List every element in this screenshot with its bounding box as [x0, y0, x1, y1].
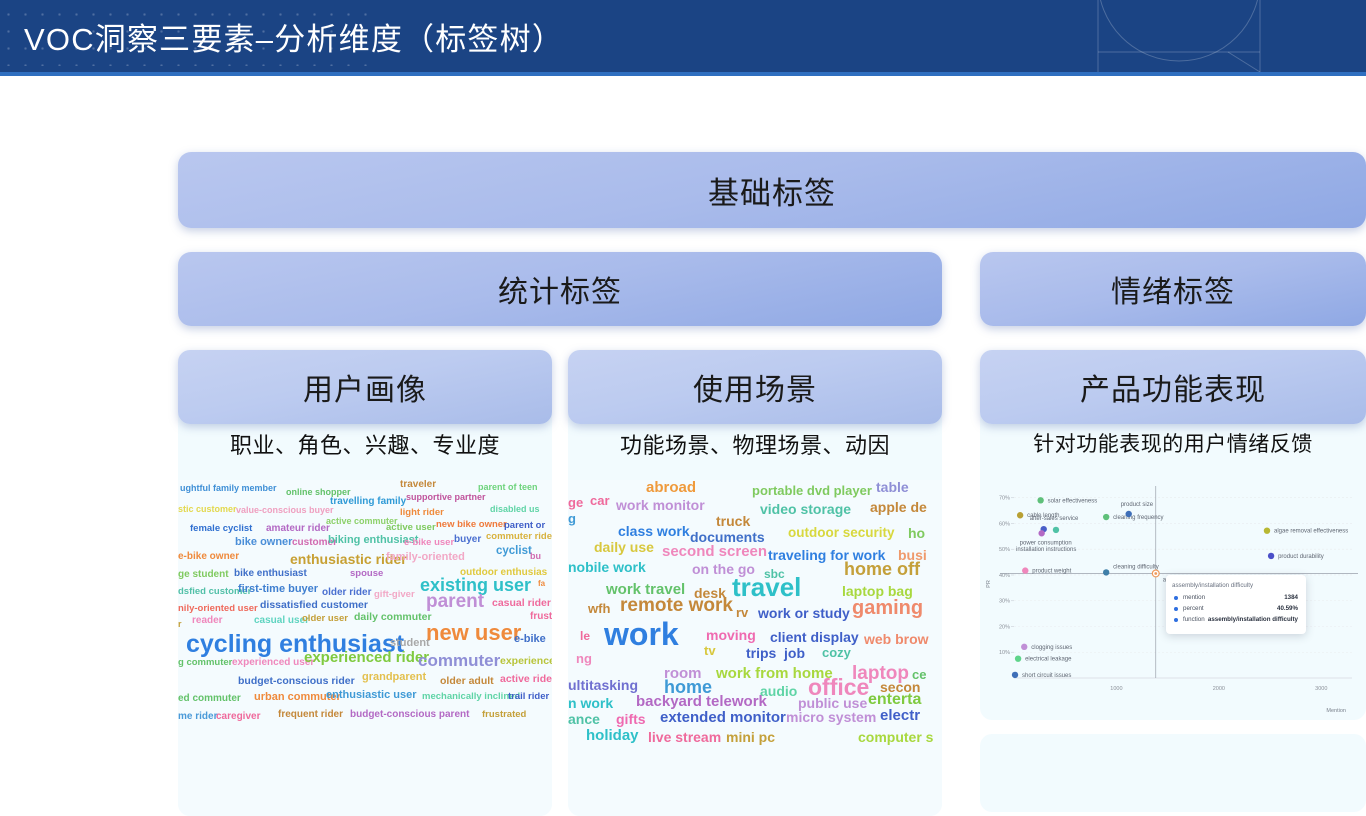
column-header-usage-scene[interactable]: 使用场景 — [568, 350, 942, 424]
wordcloud-term: ho — [908, 526, 925, 540]
wordcloud-term: live stream — [648, 730, 721, 744]
wordcloud-term: laptop bag — [842, 584, 913, 598]
tooltip-key-mention: mention — [1183, 594, 1205, 601]
y-axis-tick: 70% — [999, 496, 1010, 502]
column-title-usage-scene: 使用场景 — [693, 365, 817, 409]
wordcloud-term: wfh — [588, 602, 610, 615]
column-subtitle-user-persona: 职业、角色、兴趣、专业度 — [178, 428, 552, 460]
wordcloud-term: public use — [798, 696, 867, 710]
wordcloud-term: ge student — [178, 570, 229, 580]
wordcloud-term: bike owner — [235, 537, 292, 548]
x-axis-label: Mention — [1326, 708, 1346, 714]
wordcloud-term: home off — [844, 560, 920, 578]
wordcloud-term: frustrated — [482, 710, 526, 720]
wordcloud-term: spouse — [350, 569, 383, 579]
scatter-point-label: cleaning difficulty — [1113, 564, 1159, 570]
wordcloud-term: disabled us — [490, 505, 540, 514]
wordcloud-term: grandparent — [362, 672, 426, 683]
scatter-point-label: solar effectiveness — [1048, 498, 1098, 504]
wordcloud-term: older rider — [322, 588, 371, 598]
wordcloud-term: computer s — [858, 730, 933, 744]
wordcloud-term: reader — [192, 616, 223, 626]
sentiment-tag-box[interactable]: 情绪标签 — [980, 252, 1366, 326]
wordcloud-term: ed commuter — [178, 694, 241, 704]
scatter-point-label: clogging issues — [1031, 645, 1072, 651]
tooltip-title: assembly/installation difficulty — [1172, 582, 1298, 589]
y-axis-tick: 20% — [999, 624, 1010, 630]
wordcloud-term: daily commuter — [354, 612, 432, 623]
scatter-point[interactable]: cleaning frequency — [1103, 514, 1164, 521]
wordcloud-term: gaming — [852, 598, 923, 618]
column-title-product-function: 产品功能表现 — [1080, 365, 1266, 409]
wordcloud-term: g — [568, 512, 576, 525]
wordcloud-term: me rider — [178, 712, 217, 722]
scatter-point[interactable]: power consumption — [1020, 530, 1072, 546]
column-header-user-persona[interactable]: 用户画像 — [178, 350, 552, 424]
wordcloud-term: nily-oriented user — [178, 604, 258, 614]
wordcloud-term: trips — [746, 646, 776, 660]
y-axis-label: PR — [986, 580, 992, 588]
wordcloud-term: new bike owner — [436, 520, 507, 530]
wordcloud-term: light rider — [400, 508, 444, 518]
wordcloud-term: gifts — [616, 712, 646, 726]
wordcloud-term: stic customer — [178, 505, 237, 514]
base-tag-box[interactable]: 基础标签 — [178, 152, 1366, 228]
scatter-point[interactable]: product durability — [1268, 553, 1324, 560]
wordcloud-term: parent — [426, 592, 484, 611]
wordcloud-term: holiday — [586, 728, 639, 743]
wordcloud-term: job — [784, 646, 805, 660]
wordcloud-term: commuter — [418, 652, 500, 669]
y-axis-tick: 10% — [999, 650, 1010, 656]
wordcloud-term: documents — [690, 530, 765, 544]
wordcloud-term: travelling family — [330, 497, 406, 507]
wordcloud-term: experienced rider — [304, 650, 429, 665]
wordcloud-term: ultitasking — [568, 678, 638, 692]
wordcloud-term: bu — [530, 552, 541, 561]
wordcloud-term: work monitor — [616, 498, 705, 512]
wordcloud-term: ance — [568, 712, 600, 726]
y-axis-tick: 40% — [999, 573, 1010, 579]
wordcloud-term: caregiver — [216, 712, 260, 722]
wordcloud-term: remote work — [620, 596, 733, 615]
wordcloud-term: apple de — [870, 500, 927, 514]
wordcloud-term: backyard telework — [636, 694, 767, 709]
wordcloud-term: supportive partner — [406, 493, 486, 502]
scatter-point-label: electrical leakage — [1025, 657, 1072, 663]
scatter-point-label: product durability — [1278, 554, 1324, 560]
tooltip-value-mention: 1384 — [1284, 594, 1298, 601]
wordcloud-term: gift-giver — [374, 590, 415, 600]
tooltip-value-percent: 40.59% — [1277, 605, 1298, 612]
y-axis-tick: 50% — [999, 547, 1010, 553]
column-subtitle-product-function: 针对功能表现的用户情绪反馈 — [980, 428, 1366, 458]
wordcloud-term: value-conscious buyer — [236, 506, 334, 515]
y-axis-tick: 30% — [999, 599, 1010, 605]
wordcloud-term: mini pc — [726, 730, 775, 744]
wordcloud-term: le — [580, 630, 590, 642]
wordcloud-term: experienced user — [232, 658, 314, 668]
wordcloud-term: electr — [880, 708, 920, 723]
wordcloud-term: rv — [736, 606, 748, 619]
scatter-point-label: power consumption — [1020, 540, 1072, 546]
scatter-point-label: after-sales service — [1030, 516, 1079, 522]
tooltip-value-function: assembly/installation difficulty — [1208, 616, 1298, 623]
wordcloud-term: bike enthusiast — [234, 569, 307, 579]
wordcloud-term: frustra — [530, 612, 552, 622]
wordcloud-term: casual rider — [492, 598, 551, 609]
scatter-point[interactable]: clogging issues — [1021, 644, 1072, 651]
wordcloud-term: traveler — [400, 480, 436, 490]
statistic-tag-box[interactable]: 统计标签 — [178, 252, 942, 326]
wordcloud-term: new user — [426, 622, 521, 644]
wordcloud-term: r — [178, 620, 182, 629]
wordcloud-term: class work — [618, 524, 690, 538]
scatter-point-label: product weight — [1032, 569, 1071, 575]
wordcloud-term: budget-conscious parent — [350, 710, 469, 720]
wordcloud-term: parent or — [504, 521, 545, 531]
header-geometry-decoration — [998, 0, 1298, 72]
column-subtitle-usage-scene: 功能场景、物理场景、动因 — [568, 428, 942, 460]
column-product-function-footer-panel — [980, 734, 1366, 812]
wordcloud-term: family-oriented — [386, 552, 465, 563]
chart-tooltip: assembly/installation difficulty mention… — [1166, 575, 1306, 634]
tooltip-key-function: function — [1183, 616, 1205, 623]
wordcloud-term: n work — [568, 696, 613, 710]
wordcloud-term: ge — [568, 496, 583, 509]
wordcloud-term: older adult — [440, 676, 494, 687]
scatter-point[interactable]: algae removal effectiveness — [1264, 527, 1348, 534]
tooltip-row-percent: percent 40.59% — [1174, 605, 1298, 612]
wordcloud-term: commuter rider — [486, 532, 552, 542]
wordcloud-term: dissatisfied customer — [260, 600, 368, 611]
wordcloud-term: micro system — [786, 710, 876, 724]
wordcloud-term: work or study — [758, 606, 850, 620]
wordcloud-term: student — [390, 638, 430, 649]
wordcloud-term: abroad — [646, 480, 696, 495]
wordcloud-term: g commuter — [178, 658, 232, 668]
y-axis-tick: 60% — [999, 521, 1010, 527]
sentiment-tag-label: 情绪标签 — [1111, 267, 1235, 311]
wordcloud-term: e-bike — [514, 634, 546, 645]
tooltip-row-function: function assembly/installation difficult… — [1174, 616, 1298, 623]
wordcloud-usage-scene: gecarabroadportable dvd playertablegwork… — [568, 480, 942, 816]
wordcloud-term: buyer — [454, 535, 481, 545]
wordcloud-term: table — [876, 480, 909, 494]
x-axis-tick: 1000 — [1110, 686, 1122, 692]
wordcloud-term: cozy — [822, 646, 851, 659]
wordcloud-user-persona: ughtful family memberonline shoppertrave… — [178, 480, 552, 816]
wordcloud-term: video storage — [760, 502, 851, 516]
wordcloud-term: e-bike user — [404, 538, 454, 548]
wordcloud-term: fa — [538, 580, 545, 588]
wordcloud-term: client display — [770, 630, 859, 644]
wordcloud-term: outdoor security — [788, 526, 895, 540]
page-title: VOC洞察三要素–分析维度（标签树） — [24, 14, 564, 59]
scatter-point-label: cleaning frequency — [1113, 515, 1163, 521]
wordcloud-term: e-bike owner — [178, 552, 239, 562]
wordcloud-term: budget-conscious rider — [238, 676, 355, 687]
wordcloud-term: enterta — [868, 692, 921, 708]
scatter-point-label: installation instructions — [1016, 547, 1076, 553]
x-axis-tick: 3000 — [1315, 686, 1327, 692]
wordcloud-term: car — [590, 494, 610, 507]
bullet-icon — [1174, 596, 1178, 600]
wordcloud-term: second screen — [662, 544, 767, 559]
wordcloud-term: parent of teen — [478, 483, 538, 492]
wordcloud-term: active rider — [500, 674, 552, 685]
scatter-chart[interactable]: 10%20%30%40%50%60%70%100020003000PRMenti… — [980, 478, 1366, 718]
page-header: VOC洞察三要素–分析维度（标签树） — [0, 0, 1366, 72]
wordcloud-term: tv — [704, 644, 716, 657]
column-header-product-function[interactable]: 产品功能表现 — [980, 350, 1366, 424]
x-axis-tick: 2000 — [1213, 686, 1225, 692]
wordcloud-term: web brow — [864, 632, 929, 646]
statistic-tag-label: 统计标签 — [498, 267, 622, 311]
wordcloud-term: frequent rider — [278, 710, 343, 720]
wordcloud-term: trail rider — [508, 692, 549, 702]
wordcloud-term: amateur rider — [266, 524, 330, 534]
wordcloud-term: portable dvd player — [752, 484, 872, 497]
column-user-persona: 用户画像 职业、角色、兴趣、专业度 ughtful family membero… — [178, 350, 552, 816]
wordcloud-term: first-time buyer — [238, 584, 318, 595]
scatter-point-label: product size — [1121, 502, 1154, 508]
wordcloud-term: ng — [576, 652, 592, 665]
base-tag-label: 基础标签 — [708, 168, 836, 213]
wordcloud-term: experienced — [500, 656, 552, 667]
wordcloud-term: nobile work — [568, 560, 646, 574]
wordcloud-term: moving — [706, 628, 756, 642]
column-product-function: 产品功能表现 针对功能表现的用户情绪反馈 10%20%30%40%50%60%7… — [980, 350, 1366, 720]
wordcloud-term: active user — [386, 523, 436, 533]
scatter-point[interactable]: electrical leakage — [1015, 655, 1072, 662]
wordcloud-term: mechanically inclined — [422, 692, 520, 702]
bullet-icon — [1174, 607, 1178, 611]
wordcloud-term: daily use — [594, 540, 654, 554]
wordcloud-term: truck — [716, 514, 750, 528]
scatter-point-label: short circuit issues — [1022, 673, 1071, 679]
wordcloud-term: older user — [302, 614, 348, 624]
bullet-icon — [1174, 618, 1178, 622]
tooltip-key-percent: percent — [1183, 605, 1204, 612]
column-title-user-persona: 用户画像 — [303, 365, 427, 409]
wordcloud-term: casual user — [254, 616, 309, 626]
tooltip-row-mention: mention 1384 — [1174, 594, 1298, 601]
wordcloud-term: ughtful family member — [180, 484, 277, 493]
wordcloud-term: work — [604, 618, 679, 650]
wordcloud-term: travel — [732, 574, 801, 600]
scatter-point-label: algae removal effectiveness — [1274, 529, 1348, 535]
header-underline — [0, 72, 1366, 76]
scatter-point[interactable]: solar effectiveness — [1037, 497, 1097, 504]
wordcloud-term: cyclist — [496, 546, 532, 558]
wordcloud-term: extended monitor — [660, 710, 786, 725]
scatter-point[interactable]: cleaning difficulty — [1103, 564, 1159, 575]
column-usage-scene: 使用场景 功能场景、物理场景、动因 gecarabroadportable dv… — [568, 350, 942, 816]
wordcloud-term: enthusiastic user — [326, 690, 416, 701]
wordcloud-term: female cyclist — [190, 524, 252, 534]
